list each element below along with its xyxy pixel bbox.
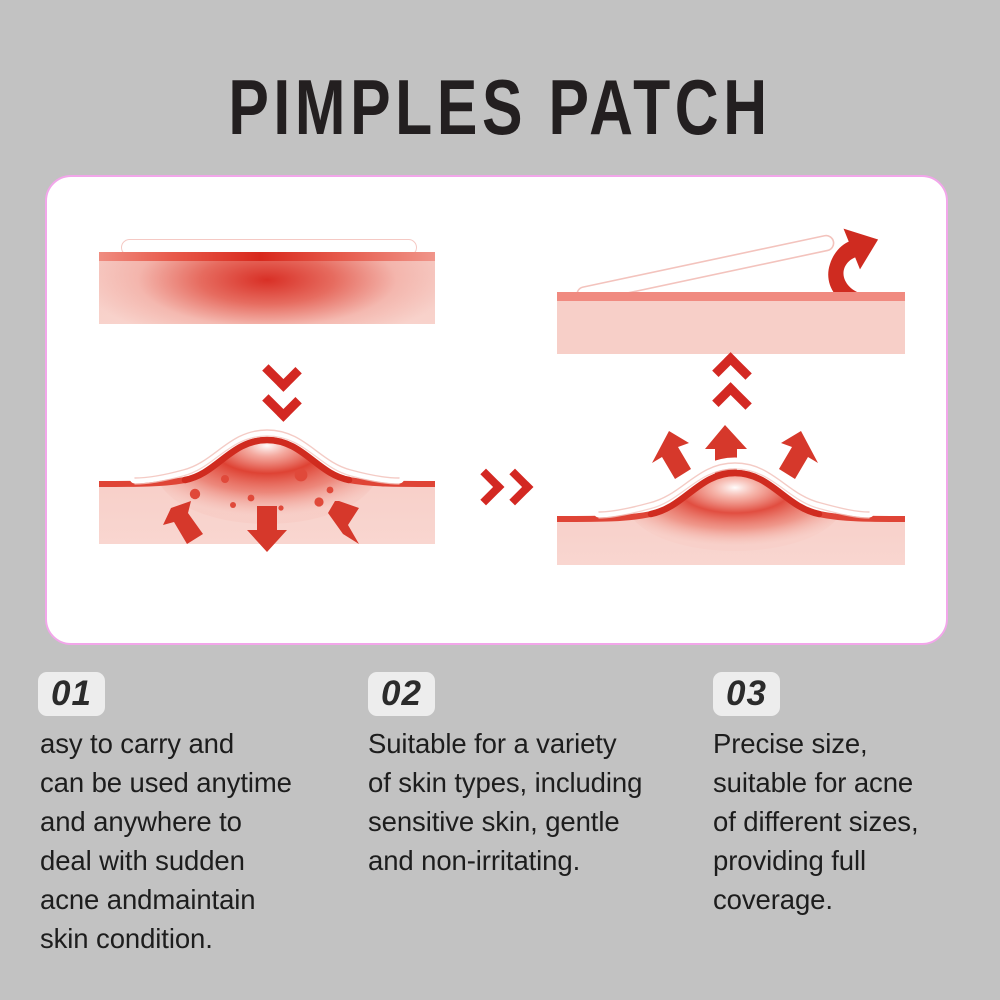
skin-surface-band	[99, 252, 435, 261]
feature-badge-number: 01	[38, 672, 105, 716]
feature-list: 01 asy to carry and can be used anytime …	[0, 672, 1000, 992]
pimple-bump-absorbing	[99, 422, 435, 562]
skin-surface-band	[557, 292, 905, 301]
connector-chevron-up	[702, 359, 762, 415]
skin-dermis	[557, 301, 905, 354]
feature-badge-number: 02	[368, 672, 435, 716]
skin-layer-inflamed	[99, 252, 435, 324]
skin-dermis	[99, 261, 435, 324]
feature-item-01: 01 asy to carry and can be used anytime …	[38, 672, 343, 958]
diagram-card	[45, 175, 948, 645]
feature-badge-number: 03	[713, 672, 780, 716]
feature-description: Precise size, suitable for acne of diffe…	[713, 724, 978, 919]
feature-description: asy to carry and can be used anytime and…	[40, 724, 343, 958]
skin-layer-healthy	[557, 292, 905, 354]
panel-pimple-drawn-out-upward	[557, 417, 905, 567]
page-title: PIMPLES PATCH	[40, 62, 960, 152]
panel-patch-peeled-off-healed-skin	[557, 217, 905, 357]
connector-chevron-down	[252, 359, 312, 415]
panel-patch-absorbing-pimple	[99, 422, 435, 562]
feature-item-02: 02 Suitable for a variety of skin types,…	[368, 672, 698, 880]
connector-chevron-right	[465, 467, 535, 507]
chevron-right-icon	[496, 469, 533, 506]
panel-patch-applied-on-inflamed-skin	[99, 239, 435, 354]
pimple-bump-extracting	[557, 417, 905, 567]
chevron-down-icon	[262, 382, 302, 422]
feature-item-03: 03 Precise size, suitable for acne of di…	[713, 672, 978, 919]
feature-description: Suitable for a variety of skin types, in…	[368, 724, 698, 880]
chevron-up-icon	[712, 382, 752, 422]
